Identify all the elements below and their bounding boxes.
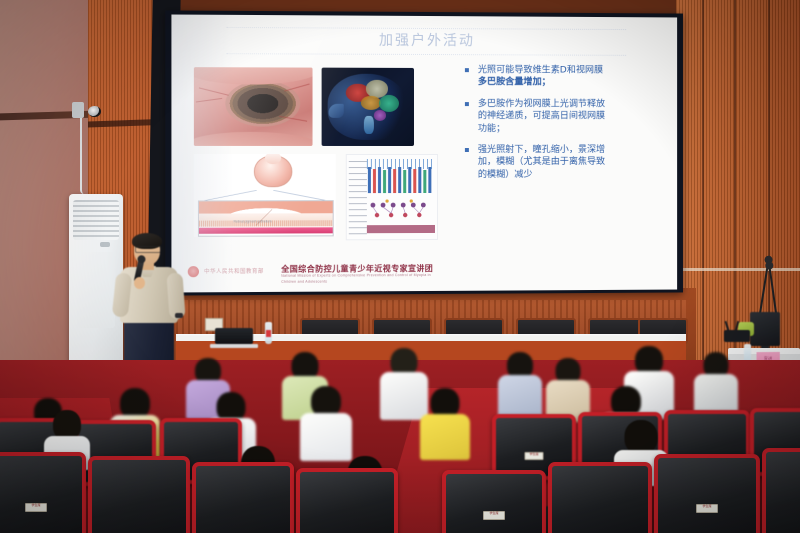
bullet-3-line-2: 加，模糊（尤其是由于离焦导致 bbox=[478, 156, 662, 168]
slide-footer: 中华人民共和国教育部 全国综合防控儿童青少年近视专家宣讲团 National M… bbox=[171, 260, 677, 289]
organization-name-en-line2: Children and Adolescents bbox=[281, 280, 327, 284]
seat-tag: 学生席 bbox=[25, 503, 47, 512]
audience-member bbox=[420, 388, 470, 458]
control-desk-monitor bbox=[750, 312, 780, 346]
camera-cable bbox=[80, 118, 84, 194]
auditorium-seat bbox=[192, 462, 294, 533]
ac-vent-grill bbox=[73, 200, 118, 240]
bullet-marker-icon bbox=[465, 68, 469, 72]
auditorium-seat: 学生席 bbox=[0, 452, 86, 533]
auditorium-seat: 学生席 bbox=[654, 454, 760, 533]
auditorium-seat bbox=[296, 468, 398, 533]
slide-bullet-list: 光照可能导致维生素D和视网膜 多巴胺含量增加； 多巴胺作为视网膜上光调节释放 的… bbox=[464, 64, 662, 190]
bullet-1-line-2: 多巴胺含量增加； bbox=[478, 77, 662, 90]
bullet-2-line-3: 功能； bbox=[478, 123, 662, 136]
laptop-on-stage-table bbox=[215, 328, 253, 344]
presenter-eyeglasses bbox=[135, 246, 161, 253]
bullet-item-2: 多巴胺作为视网膜上光调节释放 的神经递质，可提高日间视网膜 功能； bbox=[464, 98, 662, 135]
ac-brand-plate bbox=[100, 242, 110, 247]
camera-mount-bracket bbox=[72, 102, 84, 118]
bullet-2-line-2: 的神经递质，可提高日间视网膜 bbox=[478, 110, 662, 123]
bullet-marker-icon bbox=[465, 102, 469, 106]
presenter-hand bbox=[134, 277, 145, 289]
bullet-item-1: 光照可能导致维生素D和视网膜 多巴胺含量增加； bbox=[464, 64, 662, 89]
bullet-marker-icon bbox=[465, 148, 469, 152]
seat-tag: 学生席 bbox=[525, 452, 544, 460]
audience-member bbox=[546, 358, 590, 420]
auditorium-seat bbox=[88, 456, 190, 533]
wireless-router bbox=[724, 330, 750, 342]
projection-screen: 加强户外活动 bbox=[165, 10, 683, 295]
bullet-2-line-1: 多巴胺作为视网膜上光调节释放 bbox=[478, 98, 662, 111]
presenter-wristwatch bbox=[175, 313, 183, 318]
organization-name-en-line1: National Mission of Experts on Comprehen… bbox=[281, 273, 431, 278]
water-bottle bbox=[265, 322, 272, 344]
audience-member bbox=[694, 352, 738, 418]
bullet-1-line-1: 光照可能导致维生素D和视网膜 bbox=[478, 64, 662, 77]
lecture-hall-photo: 加强户外活动 bbox=[0, 0, 800, 533]
bullet-3-line-1: 强光照射下，瞳孔缩小，景深增 bbox=[478, 144, 662, 156]
seat-tag: 学生席 bbox=[483, 511, 505, 520]
security-camera-icon bbox=[88, 106, 101, 117]
ac-front-panel bbox=[77, 252, 116, 328]
audience-member bbox=[498, 352, 542, 418]
auditorium-seat bbox=[548, 462, 652, 533]
title-rule-bottom bbox=[226, 53, 626, 56]
auditorium-seat: 学生席 bbox=[442, 470, 546, 533]
seat-tag: 学生席 bbox=[696, 504, 718, 513]
bullet-3-line-3: 的模糊）减少 bbox=[478, 169, 662, 182]
auditorium-seat bbox=[762, 448, 800, 533]
slide-title: 加强户外活动 bbox=[171, 29, 677, 51]
presentation-slide: 加强户外活动 bbox=[171, 15, 677, 293]
brain-head-anatomy-illustration bbox=[322, 68, 414, 146]
retinal-cell-layers-diagram bbox=[346, 154, 438, 240]
bullet-item-3: 强光照射下，瞳孔缩小，景深增 加，模糊（尤其是由于离焦导致 的模糊）减少 bbox=[464, 144, 662, 181]
audience-member bbox=[300, 386, 352, 458]
